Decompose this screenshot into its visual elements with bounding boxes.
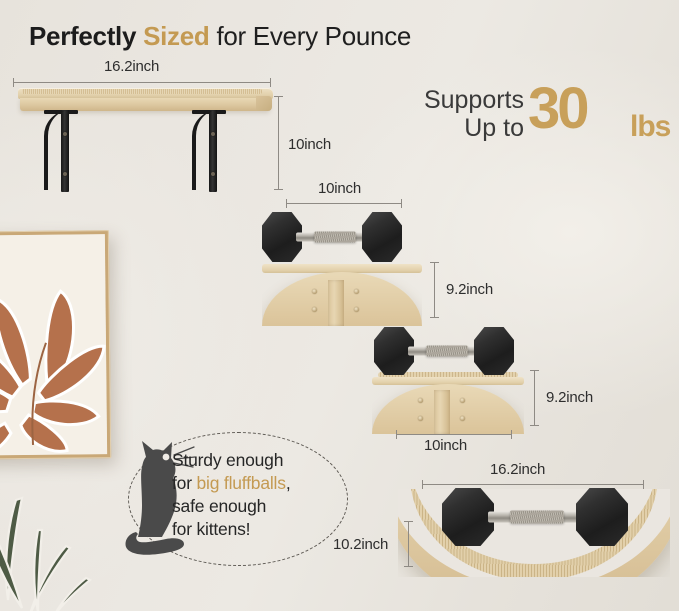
title-part-2-highlight: Sized [143, 21, 209, 51]
shelf2-screw [312, 307, 317, 312]
dumbbell-head-left [442, 488, 494, 546]
callout-line-2-pre: for [172, 473, 197, 493]
shelf1-width-label: 16.2inch [104, 58, 159, 75]
shelf1-height-dimension-line [274, 96, 283, 190]
shelf3-screw [418, 416, 423, 421]
shelf2-screw [312, 289, 317, 294]
shelf1-bracket-right [192, 110, 238, 192]
wall-art-frame [0, 230, 111, 460]
shelf3-width-label: 10inch [424, 437, 467, 454]
title-part-3: for Every Pounce [216, 21, 411, 51]
shelf3-screw [460, 398, 465, 403]
shelf1-height-label: 10inch [288, 136, 331, 153]
callout-line-4: for kittens! [172, 518, 347, 541]
shelf2-support-post [328, 280, 344, 326]
callout-line-3: safe enough [172, 495, 347, 518]
bracket-brace [44, 110, 74, 190]
shelf4-width-label: 16.2inch [490, 461, 545, 478]
callout-text: Sturdy enough for big fluffballs, safe e… [172, 449, 347, 541]
bracket-brace [192, 110, 222, 190]
bracket-screw [63, 132, 67, 136]
shelf3-screw [460, 416, 465, 421]
callout-line-1: Sturdy enough [172, 449, 347, 472]
plant-leaves-icon [0, 496, 136, 611]
shelf4-height-dimension-line [404, 521, 413, 567]
shelf3-height-label: 9.2inch [546, 389, 593, 406]
shelf3-support-post [434, 390, 450, 434]
shelf3-height-dimension-line [530, 370, 539, 426]
callout-line-2-post: , [286, 473, 291, 493]
callout-line-2: for big fluffballs, [172, 472, 347, 495]
product-infographic: Perfectly Sized for Every Pounce Support… [0, 0, 679, 611]
dumbbell-grip [314, 232, 356, 243]
dumbbell-head-right [474, 327, 514, 375]
shelf1-sisal-strip [22, 89, 262, 94]
supports-words: Supports Up to [406, 86, 524, 142]
half-moon-shelf-lower [372, 372, 524, 434]
dumbbell-head-right [362, 212, 402, 262]
shelf1-width-dimension-line [13, 78, 271, 87]
half-moon-shelf-upper [262, 264, 422, 326]
shelf2-height-dimension-line [430, 262, 439, 318]
supports-weight-badge: Supports Up to 30 lbs [406, 86, 668, 158]
supports-weight-number: 30 [528, 80, 587, 138]
supports-line-2: Up to [406, 114, 524, 142]
shelf1-bracket-left [44, 110, 90, 192]
botanical-leaf-illustration [0, 234, 107, 456]
bracket-screw [211, 132, 215, 136]
wall-art-canvas [0, 234, 107, 456]
shelf4-width-dimension-line [422, 480, 644, 489]
title-part-1: Perfectly [29, 21, 136, 51]
supports-weight-unit: lbs [630, 110, 670, 144]
shelf1-side-edge [256, 96, 272, 111]
plant-decoration [0, 496, 136, 611]
shelf3-screw [418, 398, 423, 403]
shelf2-height-label: 9.2inch [446, 281, 493, 298]
shelf2-screw [354, 307, 359, 312]
dumbbell-bottom [442, 486, 628, 548]
supports-line-1: Supports [406, 86, 524, 114]
dumbbell-middle [374, 324, 514, 378]
dumbbell-grip [426, 346, 468, 357]
dumbbell-upper [262, 209, 402, 265]
dumbbell-head-right [576, 488, 628, 546]
shelf2-width-dimension-line [286, 199, 402, 208]
straight-plank-shelf [18, 88, 273, 193]
dumbbell-grip [510, 511, 564, 524]
page-title: Perfectly Sized for Every Pounce [29, 21, 411, 52]
bracket-screw [211, 172, 215, 176]
callout-line-2-highlight: big fluffballs [197, 473, 286, 493]
bracket-screw [63, 172, 67, 176]
shelf2-screw [354, 289, 359, 294]
shelf2-width-label: 10inch [318, 180, 361, 197]
